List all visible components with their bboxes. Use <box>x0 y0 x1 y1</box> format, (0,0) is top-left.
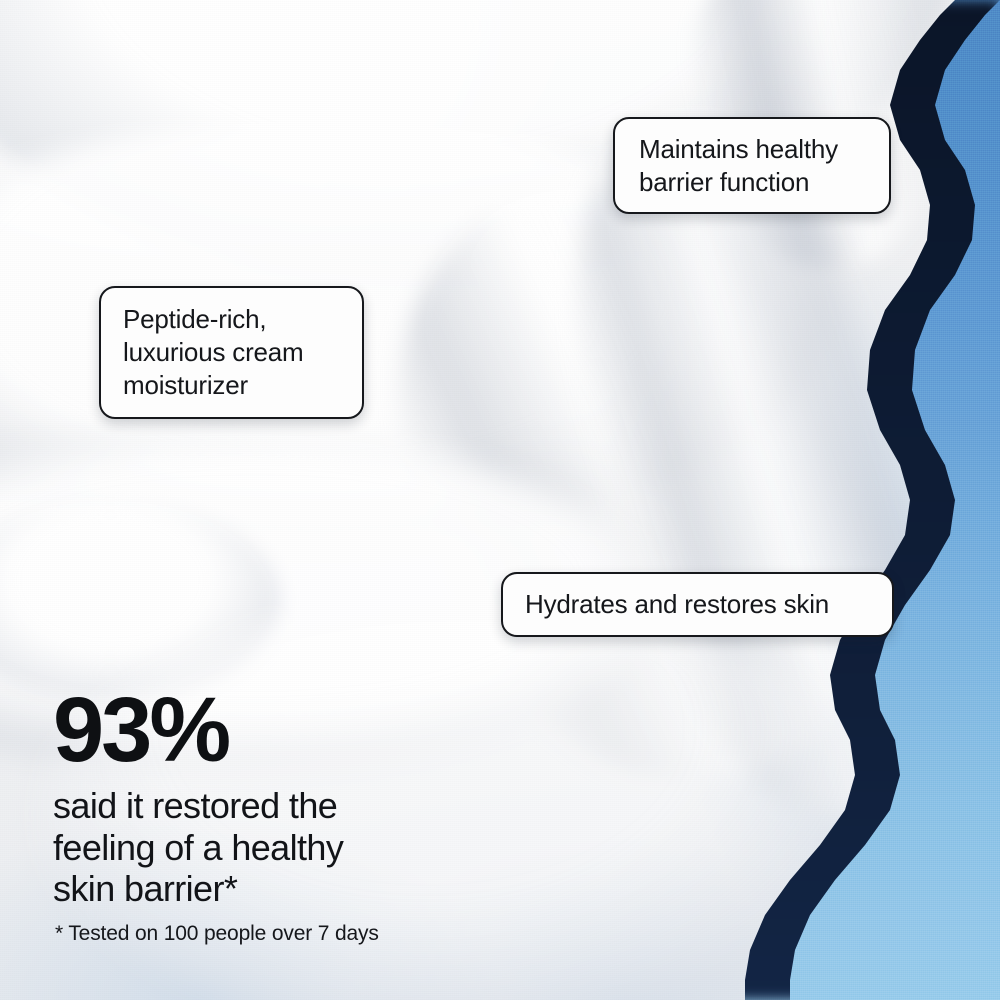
statistic-caption: said it restored the feeling of a health… <box>53 785 573 910</box>
statistic-footnote: * Tested on 100 people over 7 days <box>55 922 379 946</box>
callout-hydrates-restores: Hydrates and restores skin <box>501 572 894 637</box>
product-benefits-graphic: Maintains healthy barrier function Pepti… <box>0 0 1000 1000</box>
statistic-percentage: 93% <box>53 690 573 771</box>
statistic-block: 93% said it restored the feeling of a he… <box>53 690 573 910</box>
callout-maintains-barrier-label: Maintains healthy barrier function <box>639 133 838 199</box>
callout-hydrates-restores-label: Hydrates and restores skin <box>525 588 829 621</box>
callout-peptide-rich-label: Peptide-rich, luxurious cream moisturize… <box>123 303 304 401</box>
callout-peptide-rich: Peptide-rich, luxurious cream moisturize… <box>99 286 364 419</box>
callout-maintains-barrier: Maintains healthy barrier function <box>613 117 891 214</box>
